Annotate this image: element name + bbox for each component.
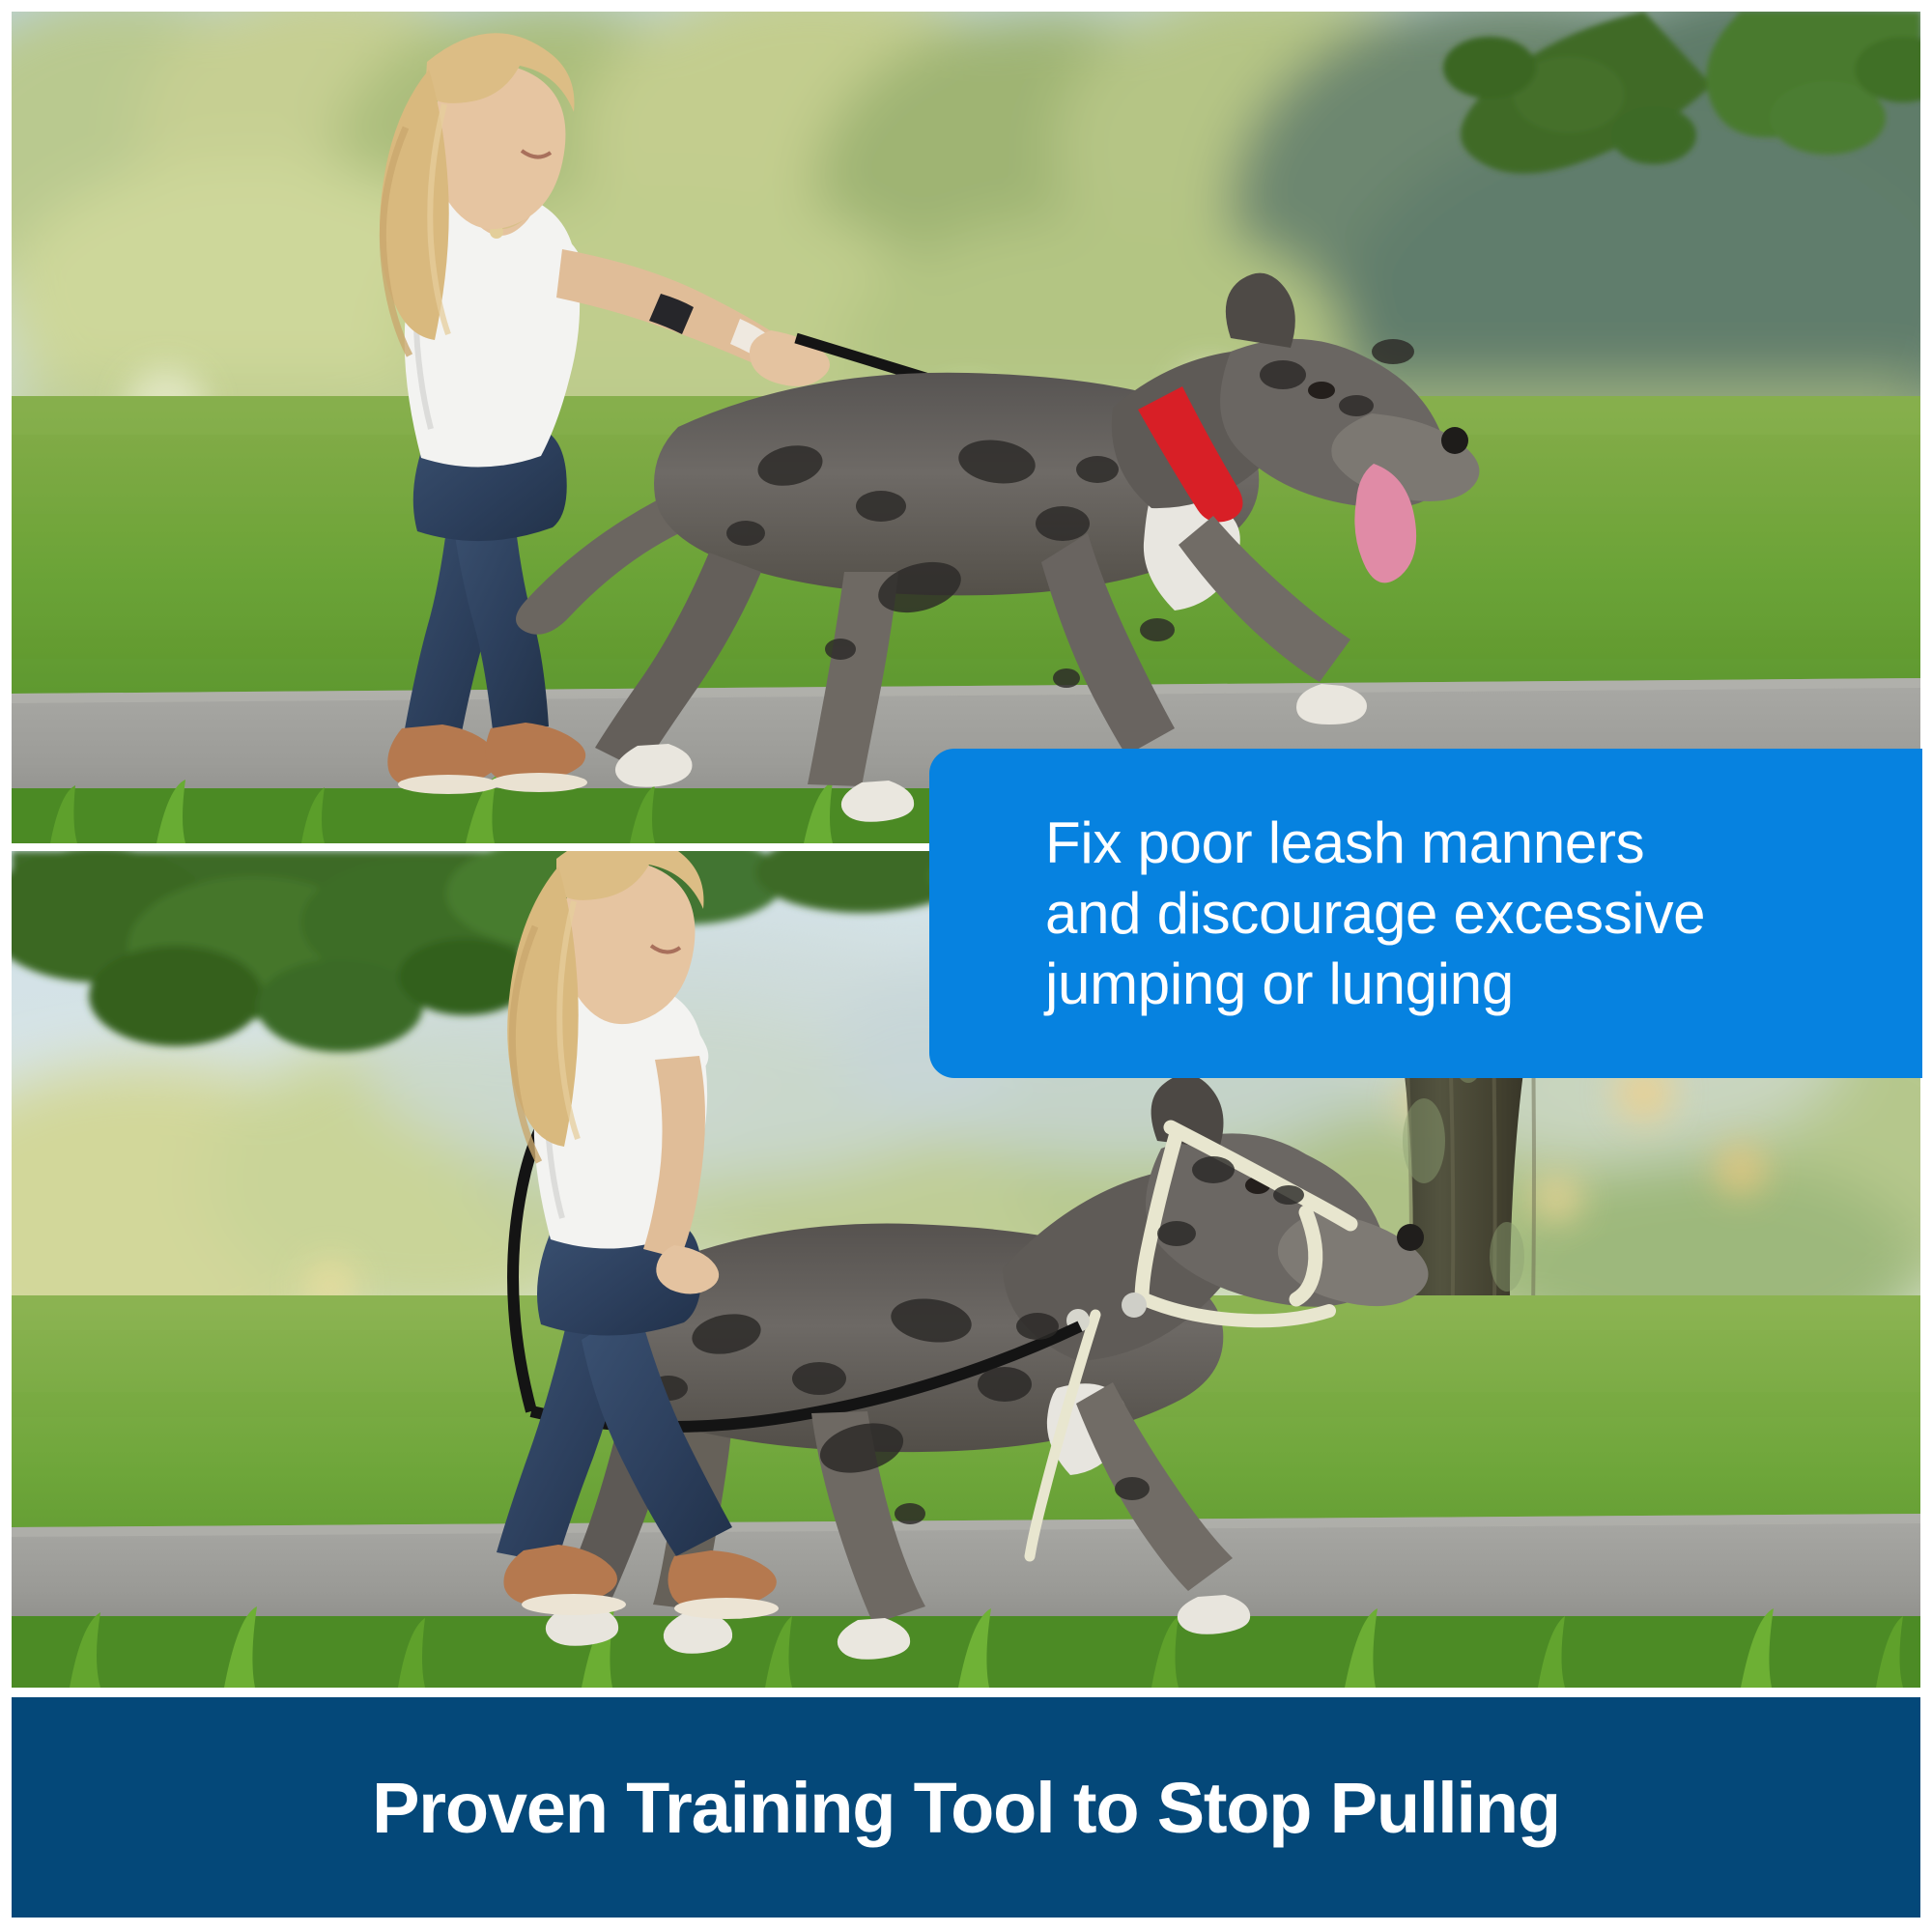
callout-line-3: jumping or lunging — [1045, 949, 1884, 1019]
callout-line-2: and discourage excessive — [1045, 878, 1884, 949]
dog-nose — [1441, 427, 1468, 454]
banner-headline: Proven Training Tool to Stop Pulling — [372, 1767, 1560, 1849]
dog-nose — [1397, 1224, 1424, 1251]
product-feature-poster: Fix poor leash manners and discourage ex… — [0, 0, 1932, 1932]
photo-before-pulling — [12, 12, 1920, 843]
callout-line-1: Fix poor leash manners — [1045, 808, 1884, 878]
feature-callout: Fix poor leash manners and discourage ex… — [929, 749, 1922, 1078]
bottom-banner: Proven Training Tool to Stop Pulling — [12, 1697, 1920, 1918]
photo-top-scene — [12, 12, 1920, 843]
